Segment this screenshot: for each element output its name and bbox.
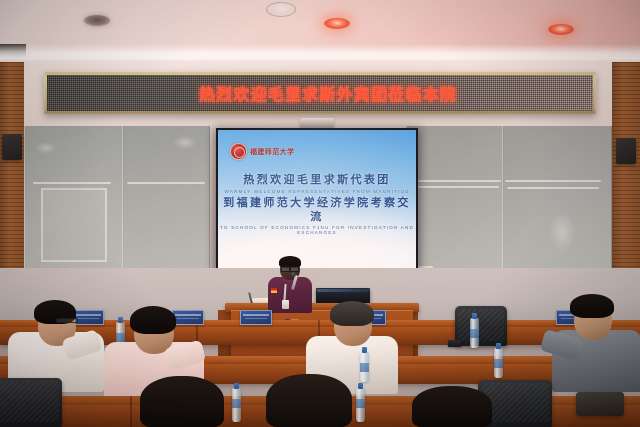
- tablet-screen: [240, 310, 272, 325]
- audience-hair: [412, 386, 492, 427]
- smoke-detector-icon: [266, 2, 296, 17]
- audience-glasses-icon: [56, 318, 78, 323]
- presentation-slide: 福建师范大学 热烈欢迎毛里求斯代表团 WARMLY WELCOME REPRES…: [218, 130, 416, 268]
- office-chair: [0, 378, 62, 427]
- wall-speaker-right: [616, 138, 636, 164]
- downlight-1: [84, 15, 110, 26]
- conference-room-photo: 热烈欢迎毛里求斯外宾团莅临本院 福建师范大学 热烈欢迎毛里求斯代表团 WARML…: [0, 0, 640, 427]
- wall-speaker-left: [2, 134, 22, 160]
- slide-line2-en: TO SCHOOL OF ECONOMICS FJNU FOR INVESTIG…: [218, 225, 416, 235]
- audience-member-foreground: [140, 376, 224, 427]
- presenter-badge: [282, 300, 289, 309]
- presenter-glasses-icon: [281, 266, 299, 270]
- audience-member-foreground: [266, 374, 352, 427]
- water-bottle: [470, 318, 479, 348]
- office-chair-empty: [455, 306, 507, 346]
- slide-university-logo: 福建师范大学: [230, 143, 294, 160]
- audience-hair: [570, 294, 614, 318]
- university-seal-icon: [230, 143, 247, 160]
- audience-member-foreground: [412, 386, 492, 427]
- downlight-2: [324, 18, 350, 29]
- water-bottle: [232, 388, 241, 422]
- table-seam-7: [130, 396, 132, 427]
- audience-hair: [330, 301, 374, 326]
- water-bottle: [360, 352, 369, 382]
- presenter-flag-pin-icon: [271, 288, 277, 293]
- slide-body: 热烈欢迎毛里求斯代表团 WARMLY WELCOME REPRESENTATIV…: [218, 174, 416, 238]
- downlight-3: [548, 24, 574, 35]
- projection-screen: 福建师范大学 热烈欢迎毛里求斯代表团 WARMLY WELCOME REPRES…: [216, 128, 418, 270]
- led-banner: 热烈欢迎毛里求斯外宾团莅临本院: [44, 72, 596, 114]
- slide-line2-cn: 到福建师范大学经济学院考察交流: [218, 197, 416, 225]
- water-bottle: [356, 388, 365, 422]
- slide-line1-cn: 热烈欢迎毛里求斯代表团: [218, 174, 416, 188]
- water-bottle: [494, 348, 503, 378]
- audience-hair: [130, 306, 176, 334]
- audience-hair: [266, 374, 352, 427]
- smartphone: [448, 340, 461, 347]
- presenter-mic-head: [291, 272, 296, 277]
- window-reflection: [41, 188, 107, 262]
- audience-member: [8, 300, 108, 390]
- led-banner-text: 热烈欢迎毛里求斯外宾团莅临本院: [199, 81, 457, 105]
- briefcase: [576, 392, 624, 416]
- slide-line1-en: WARMLY WELCOME REPRESENTATIVES FROM MAUR…: [218, 189, 416, 194]
- led-banner-screen: 热烈欢迎毛里求斯外宾团莅临本院: [47, 75, 593, 111]
- audience-member: [548, 296, 640, 392]
- slide-logo-text: 福建师范大学: [250, 147, 294, 157]
- audience-hair: [140, 376, 224, 427]
